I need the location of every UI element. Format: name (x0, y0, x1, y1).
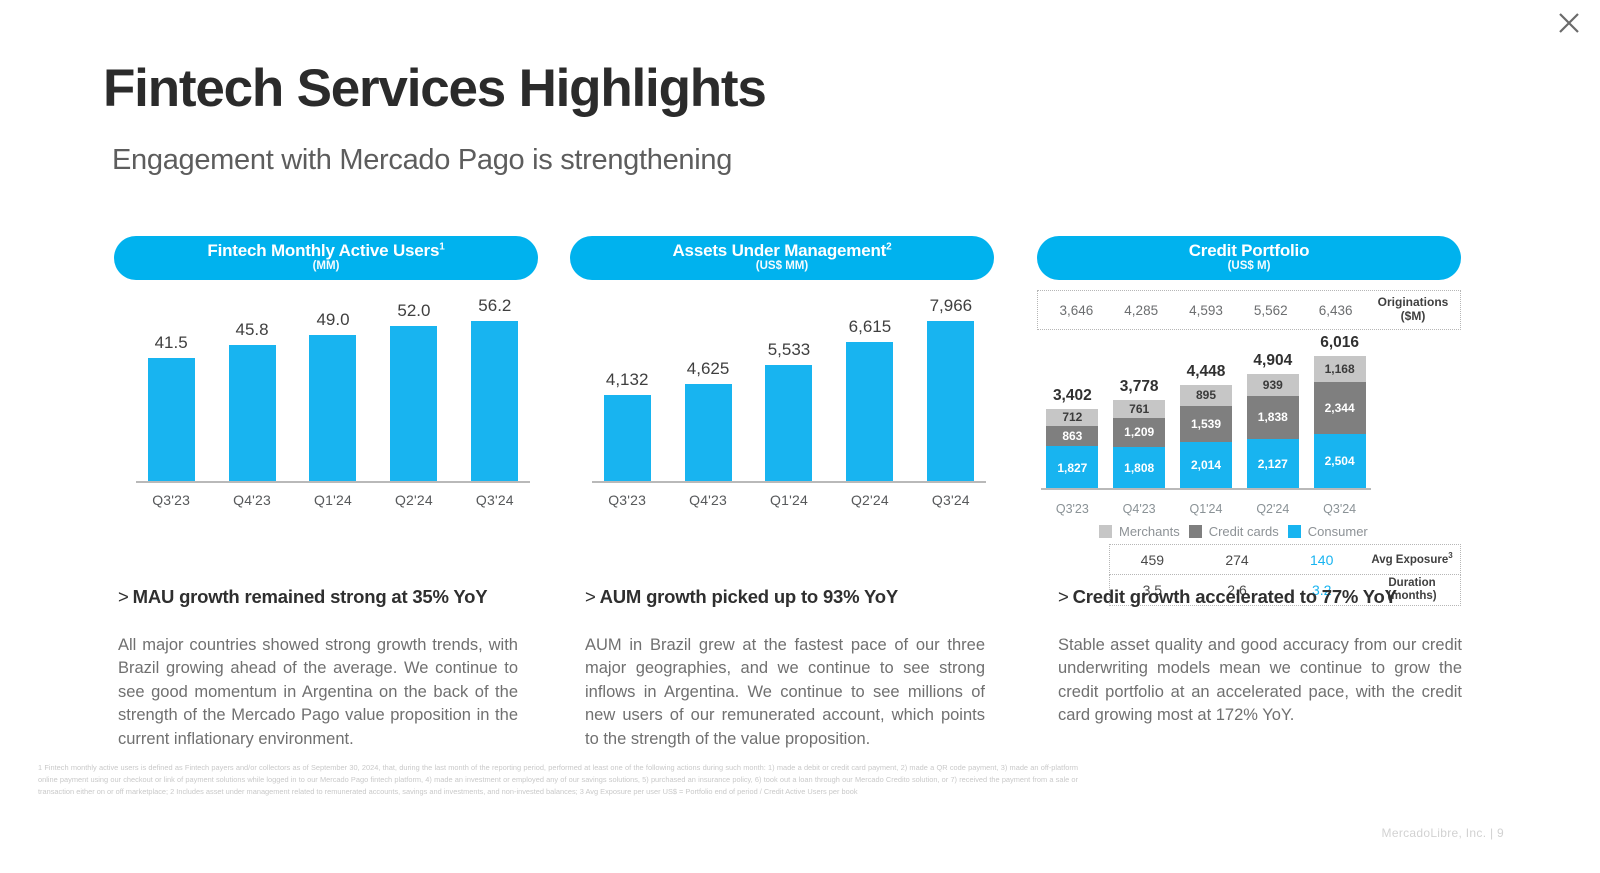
panel-title-superscript: 2 (886, 241, 891, 252)
commentary-credit: >Credit growth accelerated to 77% YoY St… (1058, 586, 1462, 728)
legend-swatch-icon (1099, 525, 1112, 538)
commentary-aum: >AUM growth picked up to 93% YoY AUM in … (585, 586, 985, 751)
legend-label: Merchants (1119, 524, 1180, 539)
segment-value-label: 1,168 (1325, 362, 1355, 376)
bar-value-label: 45.8 (236, 320, 269, 340)
bar-column: 49.0 (300, 296, 366, 482)
chart-aum: 4,1324,6255,5336,6157,966 Q3'23Q4'23Q1'2… (570, 296, 994, 508)
bar (927, 321, 974, 482)
bar-value-label: 4,625 (687, 359, 730, 379)
commentary-body-aum: AUM in Brazil grew at the fastest pace o… (585, 634, 985, 751)
chart-legend: MerchantsCredit cardsConsumer (1037, 524, 1461, 539)
segment-value-label: 2,504 (1325, 454, 1355, 468)
stacked-bar-segment: 895 (1180, 385, 1232, 406)
segment-value-label: 761 (1129, 402, 1149, 416)
stacked-bar-total-label: 6,016 (1320, 334, 1359, 352)
segment-value-label: 2,014 (1191, 458, 1221, 472)
avg-exposure-label: Avg Exposure3 (1364, 552, 1460, 566)
originations-label-line1: Originations (1368, 296, 1458, 310)
originations-value: 6,436 (1303, 303, 1368, 318)
x-axis-tick-label: Q3'23 (138, 492, 204, 508)
commentary-headline-credit: >Credit growth accelerated to 77% YoY (1058, 586, 1462, 608)
x-axis-tick-label: Q4'23 (219, 492, 285, 508)
page-footer: MercadoLibre, Inc. | 9 (1382, 826, 1504, 840)
bar (148, 358, 195, 483)
stacked-bar-segment: 2,014 (1180, 442, 1232, 489)
page-title: Fintech Services Highlights (103, 62, 766, 115)
panel-title-aum: Assets Under Management (672, 241, 886, 260)
stacked-bar-total-label: 4,448 (1187, 363, 1226, 381)
stacked-bar-segment: 1,168 (1314, 356, 1366, 382)
panel-unit-aum: (US$ MM) (756, 259, 808, 274)
bar (604, 395, 651, 482)
commentary-headline-mau: >MAU growth remained strong at 35% YoY (118, 586, 518, 608)
bar-value-label: 5,533 (768, 340, 811, 360)
legend-swatch-icon (1189, 525, 1202, 538)
panel-aum: Assets Under Management2 (US$ MM) 4,1324… (570, 236, 994, 508)
stacked-bar-total-label: 4,904 (1253, 352, 1292, 370)
panel-title-mau: Fintech Monthly Active Users (207, 241, 439, 260)
bar-column: 56.2 (462, 296, 528, 482)
avg-exposure-label-text: Avg Exposure (1371, 554, 1448, 566)
segment-value-label: 1,827 (1057, 461, 1087, 475)
x-axis-tick-label: Q1'24 (756, 492, 822, 508)
segment-value-label: 939 (1263, 378, 1283, 392)
chart-axis (592, 481, 986, 483)
bar (471, 321, 518, 482)
stacked-bar-column: 3,4027128631,827 (1043, 334, 1102, 489)
x-axis-tick-label: Q3'24 (462, 492, 528, 508)
x-axis-tick-label: Q1'24 (300, 492, 366, 508)
originations-value: 4,593 (1174, 303, 1239, 318)
panel-unit-credit: (US$ M) (1228, 259, 1271, 274)
segment-value-label: 863 (1062, 429, 1082, 443)
avg-exposure-value: 140 (1279, 552, 1364, 568)
bar-column: 41.5 (138, 296, 204, 482)
commentary-body-credit: Stable asset quality and good accuracy f… (1058, 634, 1462, 728)
avg-exposure-superscript: 3 (1448, 551, 1452, 560)
stacked-bar-column: 3,7787611,2091,808 (1110, 334, 1169, 489)
chevron-icon: > (585, 586, 596, 607)
legend-item: Merchants (1099, 524, 1180, 539)
bar-column: 6,615 (837, 296, 903, 482)
x-axis-tick-label: Q2'24 (837, 492, 903, 508)
x-axis-tick-label: Q2'24 (1243, 502, 1302, 516)
bar-column: 52.0 (381, 296, 447, 482)
stacked-bar-segment: 863 (1046, 426, 1098, 446)
bar (846, 342, 893, 482)
segment-value-label: 1,808 (1124, 461, 1154, 475)
bar (390, 326, 437, 482)
bar-value-label: 56.2 (478, 296, 511, 316)
segment-value-label: 1,838 (1258, 410, 1288, 424)
avg-exposure-value: 274 (1195, 552, 1280, 568)
bar-column: 4,625 (675, 296, 741, 482)
bar-column: 4,132 (594, 296, 660, 482)
stacked-bar: 8951,5392,014 (1180, 385, 1232, 489)
chevron-icon: > (1058, 586, 1069, 607)
segment-value-label: 1,209 (1124, 425, 1154, 439)
commentary-headline-text: MAU growth remained strong at 35% YoY (133, 586, 488, 607)
stacked-bar-segment: 1,827 (1046, 446, 1098, 489)
bar-column: 7,966 (918, 296, 984, 482)
bar (229, 345, 276, 482)
stacked-bar: 1,1682,3442,504 (1314, 356, 1366, 489)
bar-value-label: 49.0 (316, 310, 349, 330)
stacked-bar-total-label: 3,402 (1053, 387, 1092, 405)
x-axis-tick-label: Q2'24 (381, 492, 447, 508)
stacked-bar-segment: 1,539 (1180, 406, 1232, 442)
panel-fintech-mau: Fintech Monthly Active Users1 (MM) 41.54… (114, 236, 538, 508)
legend-item: Consumer (1288, 524, 1368, 539)
commentary-headline-text: AUM growth picked up to 93% YoY (600, 586, 898, 607)
stacked-bar: 9391,8382,127 (1247, 374, 1299, 489)
panel-title-credit: Credit Portfolio (1189, 241, 1310, 260)
originations-row: 3,6464,2854,5935,5626,436 Originations (… (1037, 290, 1461, 330)
legend-label: Credit cards (1209, 524, 1279, 539)
stacked-bar: 7128631,827 (1046, 409, 1098, 489)
slide: Fintech Services Highlights Engagement w… (0, 0, 1600, 873)
segment-value-label: 712 (1062, 410, 1082, 424)
footnotes: 1 Fintech monthly active users is define… (38, 762, 1078, 798)
panel-credit-portfolio: Credit Portfolio (US$ M) 3,6464,2854,593… (1037, 236, 1461, 606)
close-icon[interactable] (1552, 6, 1586, 40)
x-axis-tick-label: Q3'24 (1310, 502, 1369, 516)
bar (765, 365, 812, 482)
bar-value-label: 52.0 (397, 301, 430, 321)
originations-value: 5,562 (1238, 303, 1303, 318)
bar-column: 45.8 (219, 296, 285, 482)
metric-row-avg-exposure: 459274140 Avg Exposure3 (1109, 544, 1461, 575)
legend-item: Credit cards (1189, 524, 1279, 539)
stacked-bar-segment: 1,808 (1113, 447, 1165, 489)
bar-column: 5,533 (756, 296, 822, 482)
stacked-bar-segment: 2,504 (1314, 434, 1366, 489)
bar (309, 335, 356, 482)
stacked-bar-segment: 712 (1046, 409, 1098, 426)
stacked-bar-segment: 2,344 (1314, 382, 1366, 434)
chart-mau: 41.545.849.052.056.2 Q3'23Q4'23Q1'24Q2'2… (114, 296, 538, 508)
x-axis-tick-label: Q3'23 (1043, 502, 1102, 516)
bar-value-label: 7,966 (930, 296, 973, 316)
chart-axis (136, 481, 530, 483)
bar-value-label: 41.5 (155, 333, 188, 353)
segment-value-label: 2,344 (1325, 401, 1355, 415)
bar-value-label: 4,132 (606, 370, 649, 390)
chart-credit-portfolio: 3,4027128631,8273,7787611,2091,8084,4488… (1037, 334, 1461, 516)
stacked-bar-segment: 761 (1113, 400, 1165, 418)
segment-value-label: 1,539 (1191, 417, 1221, 431)
stacked-bar-column: 6,0161,1682,3442,504 (1310, 334, 1369, 489)
originations-label: Originations ($M) (1368, 296, 1460, 324)
stacked-bar-segment: 2,127 (1247, 439, 1299, 489)
chart-axis (1041, 488, 1371, 490)
stacked-bar-segment: 1,838 (1247, 396, 1299, 439)
avg-exposure-value: 459 (1110, 552, 1195, 568)
originations-value: 4,285 (1109, 303, 1174, 318)
panel-header-mau: Fintech Monthly Active Users1 (MM) (114, 236, 538, 280)
chevron-icon: > (118, 586, 129, 607)
panel-unit-mau: (MM) (313, 259, 340, 274)
bar-value-label: 6,615 (849, 317, 892, 337)
stacked-bar-column: 4,9049391,8382,127 (1243, 334, 1302, 489)
legend-label: Consumer (1308, 524, 1368, 539)
stacked-bar-total-label: 3,778 (1120, 378, 1159, 396)
stacked-bar-column: 4,4488951,5392,014 (1177, 334, 1236, 489)
x-axis-tick-label: Q3'24 (918, 492, 984, 508)
commentary-body-mau: All major countries showed strong growth… (118, 634, 518, 751)
panel-header-credit: Credit Portfolio (US$ M) (1037, 236, 1461, 280)
stacked-bar-segment: 1,209 (1113, 418, 1165, 446)
stacked-bar: 7611,2091,808 (1113, 400, 1165, 489)
panel-title-superscript: 1 (439, 241, 444, 252)
legend-swatch-icon (1288, 525, 1301, 538)
x-axis-tick-label: Q4'23 (675, 492, 741, 508)
x-axis-tick-label: Q4'23 (1110, 502, 1169, 516)
commentary-headline-aum: >AUM growth picked up to 93% YoY (585, 586, 985, 608)
panel-header-aum: Assets Under Management2 (US$ MM) (570, 236, 994, 280)
stacked-bar-segment: 939 (1247, 374, 1299, 396)
bar (685, 384, 732, 482)
page-subtitle: Engagement with Mercado Pago is strength… (112, 143, 732, 178)
x-axis-tick-label: Q3'23 (594, 492, 660, 508)
commentary-mau: >MAU growth remained strong at 35% YoY A… (118, 586, 518, 751)
x-axis-tick-label: Q1'24 (1177, 502, 1236, 516)
originations-label-line2: ($M) (1368, 310, 1458, 324)
segment-value-label: 895 (1196, 388, 1216, 402)
originations-value: 3,646 (1044, 303, 1109, 318)
segment-value-label: 2,127 (1258, 457, 1288, 471)
commentary-headline-text: Credit growth accelerated to 77% YoY (1073, 586, 1397, 607)
